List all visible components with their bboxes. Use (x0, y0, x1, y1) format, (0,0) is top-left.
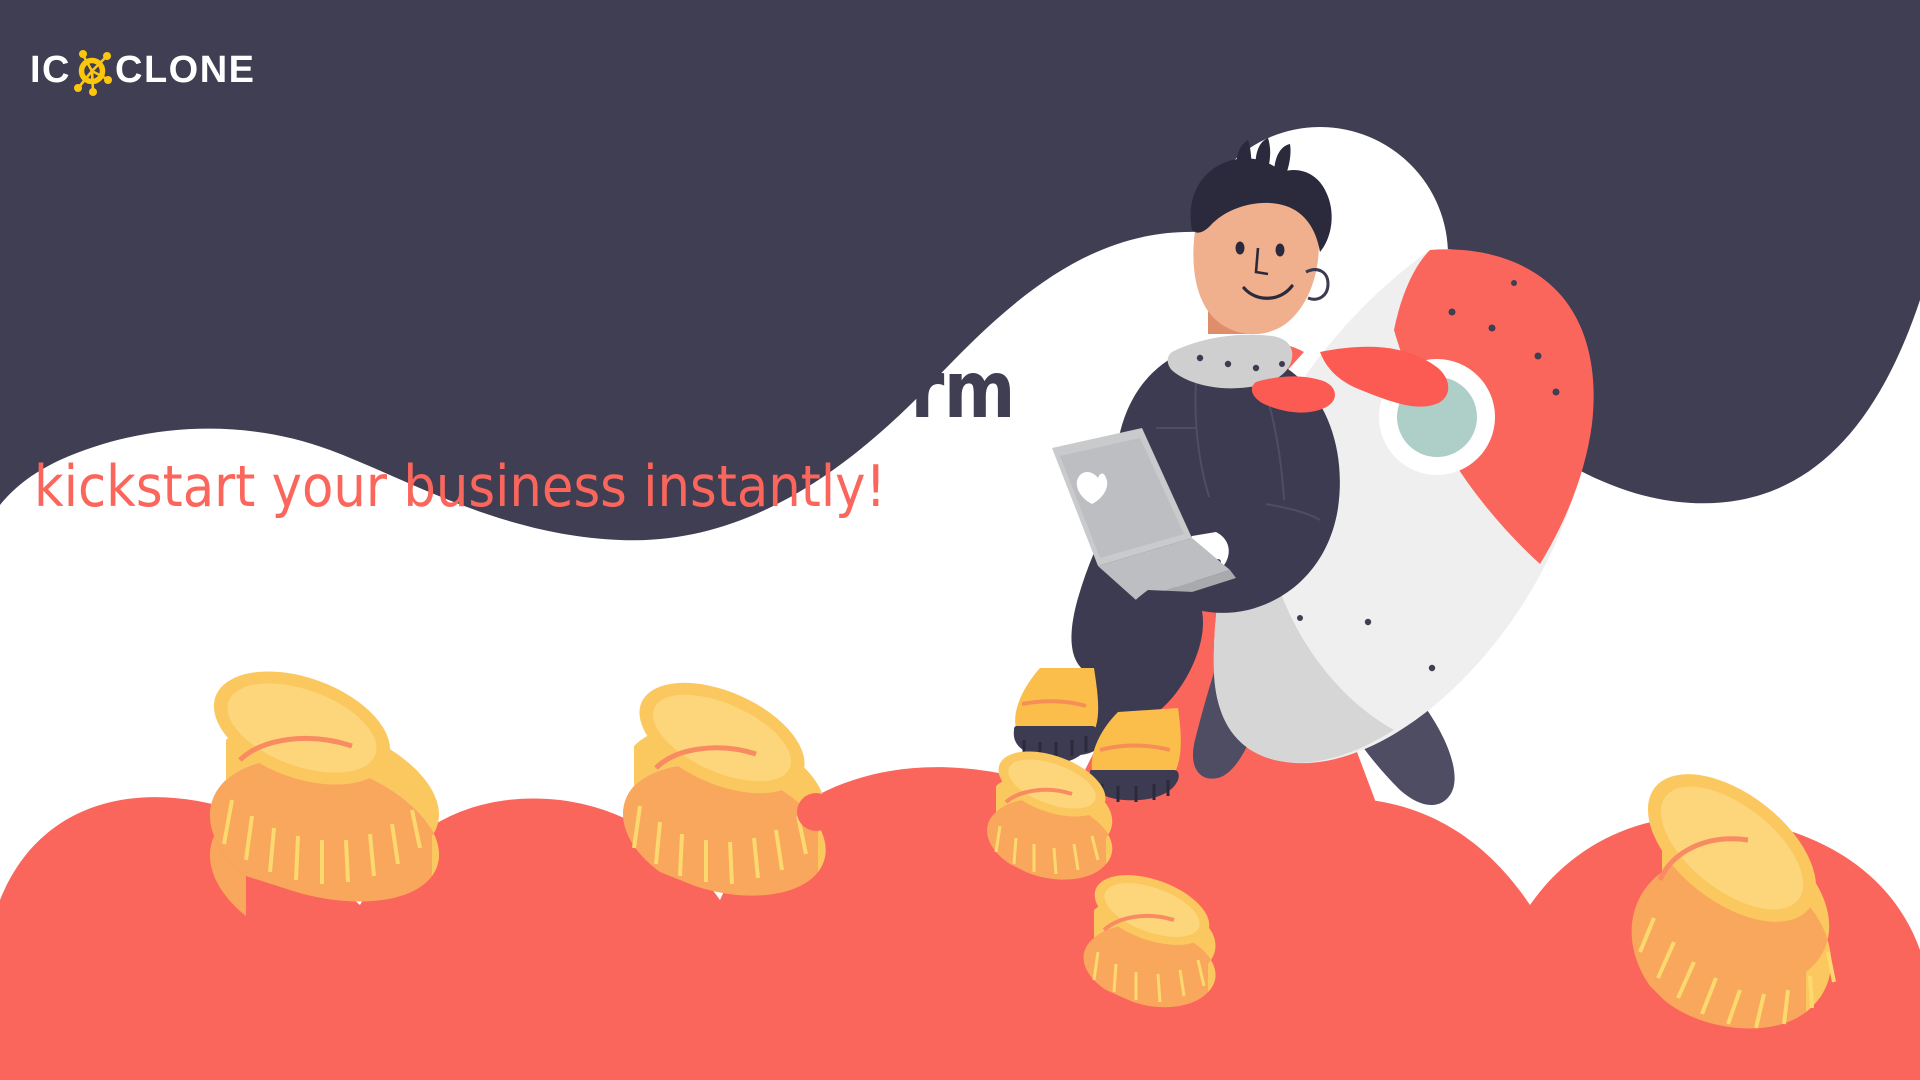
molecule-icon (71, 45, 113, 97)
hero-copy: Create your STO platform kickstart your … (34, 352, 964, 518)
logo-text-right: CLONE (115, 51, 256, 89)
page-subtitle: kickstart your business instantly! (34, 458, 871, 518)
decorative-red-dots (0, 0, 1920, 1080)
promo-banner: IC CLONE Create your STO platfo (0, 0, 1920, 1080)
page-title: Create your STO platform (34, 352, 852, 430)
logo-text-left: IC (30, 51, 71, 89)
brand-logo[interactable]: IC CLONE (30, 44, 256, 96)
